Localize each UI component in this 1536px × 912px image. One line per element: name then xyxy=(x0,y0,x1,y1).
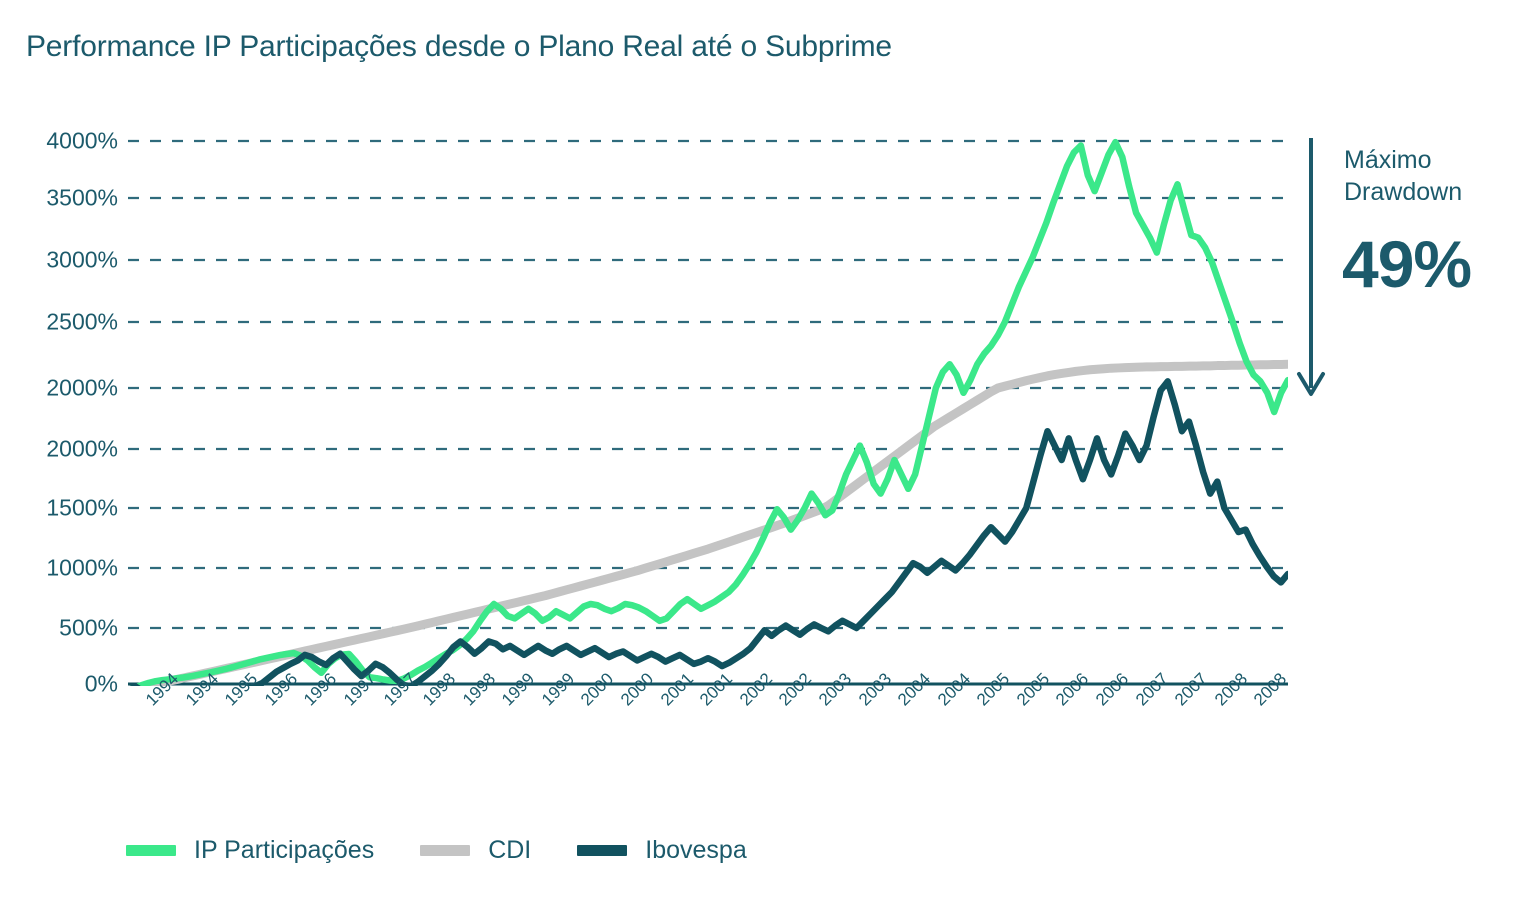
y-tick-label: 4000% xyxy=(0,128,118,155)
legend-item-ip-participa-es[interactable]: IP Participações xyxy=(126,836,374,865)
y-axis: 4000%3500%3000%2500%2000%2000%1500%1000%… xyxy=(0,130,118,690)
legend-item-cdi[interactable]: CDI xyxy=(420,836,531,865)
x-axis: 1994199419951996199619971997199819981999… xyxy=(128,690,1308,780)
y-tick-label: 3000% xyxy=(0,247,118,274)
y-tick-label: 2500% xyxy=(0,309,118,336)
y-tick-label: 3500% xyxy=(0,185,118,212)
legend-label: IP Participações xyxy=(194,836,374,865)
drawdown-label: Máximo Drawdown xyxy=(1344,144,1462,208)
drawdown-value: 49% xyxy=(1342,226,1471,302)
y-tick-label: 0% xyxy=(0,671,118,698)
drawdown-annotation: Máximo Drawdown 49% xyxy=(1296,130,1536,420)
series-line-ip-participa-es xyxy=(128,142,1288,686)
chart-legend: IP ParticipaçõesCDIIbovespa xyxy=(126,836,747,865)
legend-swatch xyxy=(420,845,470,856)
arrow-down-icon xyxy=(1296,138,1326,408)
y-tick-label: 500% xyxy=(0,615,118,642)
page-title: Performance IP Participações desde o Pla… xyxy=(26,30,892,64)
legend-swatch xyxy=(577,845,627,856)
legend-item-ibovespa[interactable]: Ibovespa xyxy=(577,836,746,865)
series-line-ibovespa xyxy=(128,381,1288,686)
chart-page: Performance IP Participações desde o Pla… xyxy=(0,0,1536,912)
legend-label: CDI xyxy=(488,836,531,865)
drawdown-label-line2: Drawdown xyxy=(1344,176,1462,208)
chart-svg xyxy=(128,130,1288,686)
legend-label: Ibovespa xyxy=(645,836,746,865)
y-tick-label: 2000% xyxy=(0,436,118,463)
y-tick-label: 2000% xyxy=(0,375,118,402)
drawdown-label-line1: Máximo xyxy=(1344,144,1462,176)
series-line-cdi xyxy=(128,364,1288,686)
y-tick-label: 1000% xyxy=(0,555,118,582)
legend-swatch xyxy=(126,845,176,856)
y-tick-label: 1500% xyxy=(0,495,118,522)
plot-area xyxy=(128,130,1288,686)
